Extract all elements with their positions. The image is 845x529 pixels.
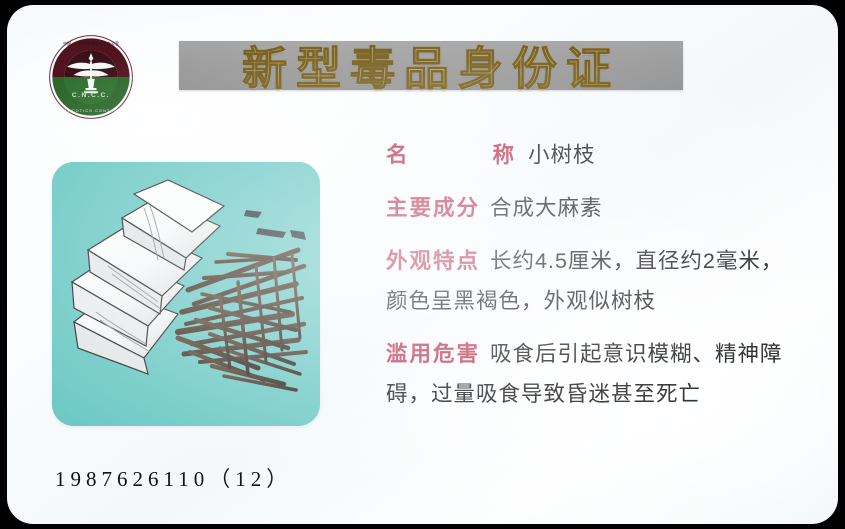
detail-line: 主要成分合成大麻素 [386, 188, 826, 228]
detail-line: 名 称小树枝 [386, 135, 826, 175]
serial-code: 1987626110（12） [55, 463, 292, 493]
detail-value: 合成大麻素 [490, 196, 603, 220]
detail-value: 吸食后引起意识模糊、精神障 [490, 342, 783, 366]
detail-value: 小树枝 [528, 143, 596, 167]
photo-illustration [52, 162, 320, 426]
svg-text:NARCOTICS CONTROL: NARCOTICS CONTROL [60, 109, 121, 113]
detail-line: 外观特点长约4.5厘米，直径约2毫米， [386, 241, 826, 281]
detail-label: 外观特点 [386, 249, 480, 273]
svg-text:中国 · 广州市禁毒委员会办公室: 中国 · 广州市禁毒委员会办公室 [63, 40, 119, 46]
detail-row-name: 名 称小树枝 [386, 135, 826, 175]
detail-line-continued: 碍，过量吸食导致昏迷甚至死亡 [386, 374, 826, 414]
detail-row-appearance: 外观特点长约4.5厘米，直径约2毫米， 颜色呈黑褐色，外观似树枝 [386, 241, 826, 321]
detail-line-continued: 颜色呈黑褐色，外观似树枝 [386, 281, 826, 321]
drug-id-card: 中国 · 广州市禁毒委员会办公室 NARCOTICS CONTROL [7, 5, 838, 524]
drug-sample-photo [52, 162, 320, 426]
detail-label: 名 称 [386, 143, 528, 167]
emblem-svg: 中国 · 广州市禁毒委员会办公室 NARCOTICS CONTROL [45, 31, 137, 123]
narcotics-control-emblem-icon: 中国 · 广州市禁毒委员会办公室 NARCOTICS CONTROL [45, 31, 137, 123]
detail-row-ingredient: 主要成分合成大麻素 [386, 188, 826, 228]
drug-detail-list: 名 称小树枝 主要成分合成大麻素 外观特点长约4.5厘米，直径约2毫米， 颜色呈… [386, 135, 826, 427]
detail-row-harm: 滥用危害吸食后引起意识模糊、精神障 碍，过量吸食导致昏迷甚至死亡 [386, 334, 826, 414]
detail-line: 滥用危害吸食后引起意识模糊、精神障 [386, 334, 826, 374]
screenshot-frame: 中国 · 广州市禁毒委员会办公室 NARCOTICS CONTROL [0, 0, 845, 529]
detail-label: 滥用危害 [386, 342, 480, 366]
detail-value: 长约4.5厘米，直径约2毫米， [490, 249, 783, 273]
page-title: 新型毒品身份证 [179, 28, 683, 100]
svg-text:C.N.C.C.: C.N.C.C. [72, 92, 110, 99]
detail-label: 主要成分 [386, 196, 480, 220]
